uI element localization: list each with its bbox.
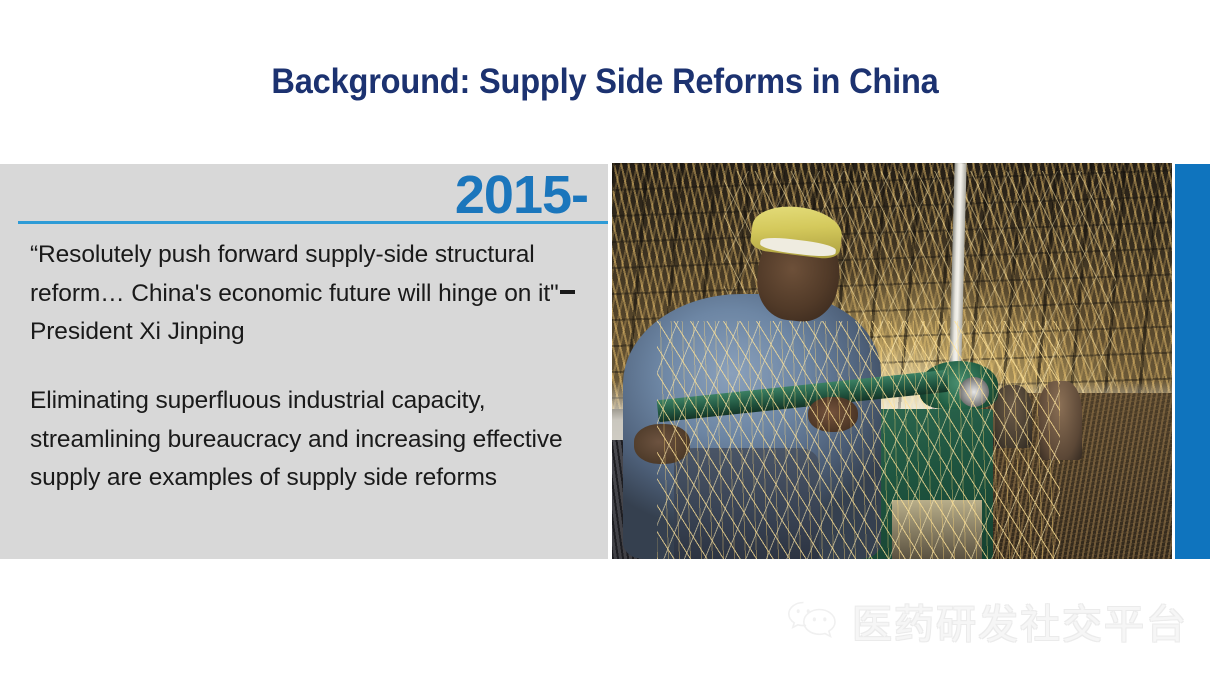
- explanation-paragraph: Eliminating superfluous industrial capac…: [30, 382, 605, 498]
- accent-bar: [1175, 164, 1210, 559]
- wechat-icon: [786, 598, 838, 645]
- em-dash-glyph: [560, 290, 575, 294]
- content-panel: 2015- “Resolutely push forward supply-si…: [0, 164, 608, 559]
- year-heading: 2015-: [0, 168, 588, 222]
- page-title: Background: Supply Side Reforms in China: [42, 62, 1167, 102]
- quote-text: “Resolutely push forward supply-side str…: [30, 241, 559, 307]
- watermark: 医药研发社交平台: [786, 592, 1188, 650]
- quote-attribution: President Xi Jinping: [30, 318, 245, 345]
- construction-worker-photo: [612, 163, 1172, 559]
- watermark-text: 医药研发社交平台: [852, 592, 1188, 650]
- photo-sparks-lower: [657, 321, 1060, 559]
- horizontal-divider: [18, 221, 608, 224]
- quote-paragraph: “Resolutely push forward supply-side str…: [30, 236, 605, 352]
